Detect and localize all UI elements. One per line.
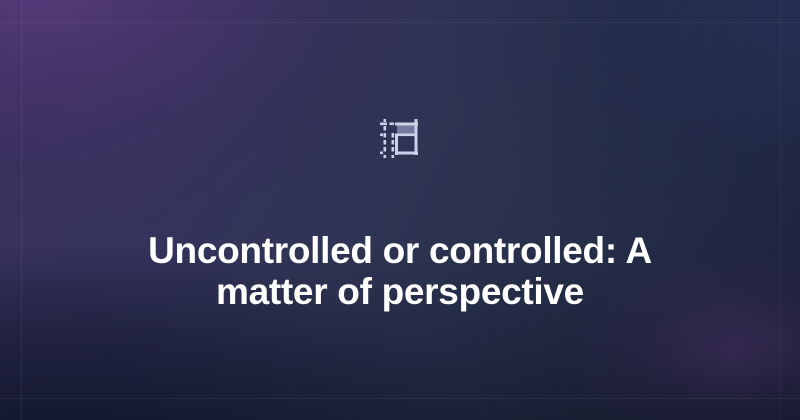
- page-title-line-1: Uncontrolled or controlled: A: [80, 230, 720, 271]
- banner-card: Uncontrolled or controlled: A matter of …: [0, 0, 800, 420]
- card-content: Uncontrolled or controlled: A matter of …: [0, 0, 800, 420]
- page-title: Uncontrolled or controlled: A matter of …: [80, 230, 720, 313]
- table-layout-icon: [375, 112, 425, 162]
- page-title-line-2: matter of perspective: [80, 271, 720, 312]
